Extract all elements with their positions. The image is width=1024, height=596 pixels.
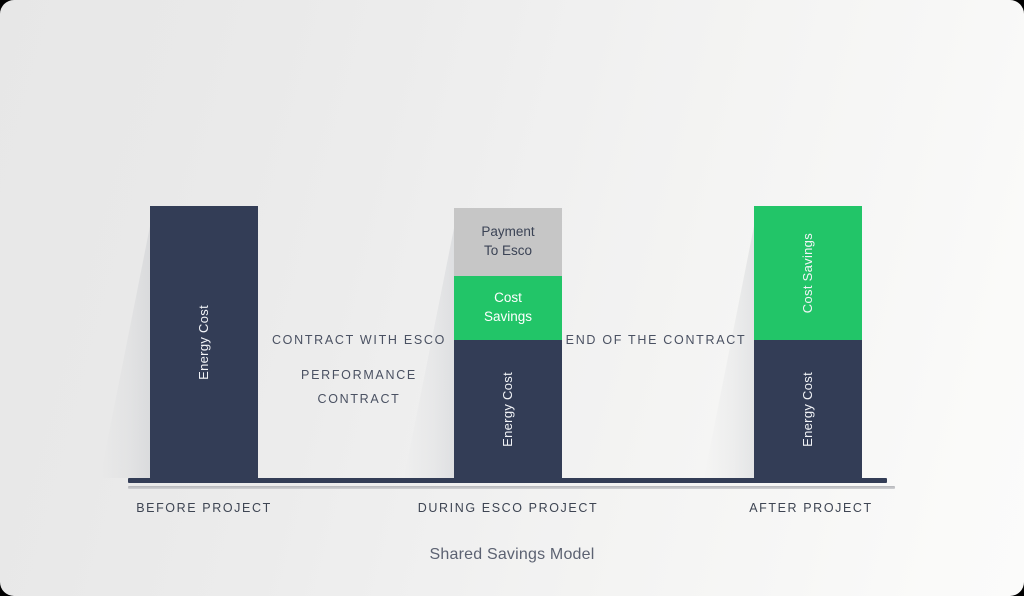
axis-line-primary	[128, 478, 887, 483]
segment-during-energy-cost[interactable]: Energy Cost	[454, 340, 562, 478]
segment-label-cost-savings: Cost Savings	[800, 233, 816, 313]
bar-during-esco-project[interactable]: Payment To Esco Cost Savings Energy Cost	[454, 208, 562, 478]
bar-before-project[interactable]: Energy Cost	[150, 206, 258, 478]
segment-label-energy-cost: Energy Cost	[500, 372, 516, 447]
category-label-after-project: AFTER PROJECT	[749, 501, 873, 515]
segment-during-payment-to-esco[interactable]: Payment To Esco	[454, 208, 562, 276]
chart-plot-area: Energy Cost Payment To Esco Cost Savings…	[0, 0, 1024, 596]
annotation-end-of-the-contract: END OF THE CONTRACT	[566, 329, 747, 353]
infographic-figure: Energy Cost Payment To Esco Cost Savings…	[0, 0, 1024, 596]
axis-line-secondary	[128, 486, 895, 489]
annotation-performance-contract: PERFORMANCE CONTRACT	[301, 364, 417, 412]
segment-label-cost-savings: Cost Savings	[484, 289, 532, 326]
segment-label-energy-cost: Energy Cost	[800, 372, 816, 447]
segment-label-energy-cost: Energy Cost	[196, 305, 212, 380]
category-label-during-esco-project: DURING ESCO PROJECT	[418, 501, 598, 515]
segment-before-energy-cost[interactable]: Energy Cost	[150, 206, 258, 478]
category-label-before-project: BEFORE PROJECT	[136, 501, 272, 515]
annotation-contract-with-esco: CONTRACT WITH ESCO	[272, 329, 446, 353]
bar-shadow-before	[100, 206, 154, 478]
segment-after-cost-savings[interactable]: Cost Savings	[754, 206, 862, 340]
chart-title: Shared Savings Model	[430, 546, 595, 564]
bar-after-project[interactable]: Cost Savings Energy Cost	[754, 206, 862, 478]
segment-during-cost-savings[interactable]: Cost Savings	[454, 276, 562, 340]
segment-label-payment-to-esco: Payment To Esco	[481, 223, 534, 260]
segment-after-energy-cost[interactable]: Energy Cost	[754, 340, 862, 478]
